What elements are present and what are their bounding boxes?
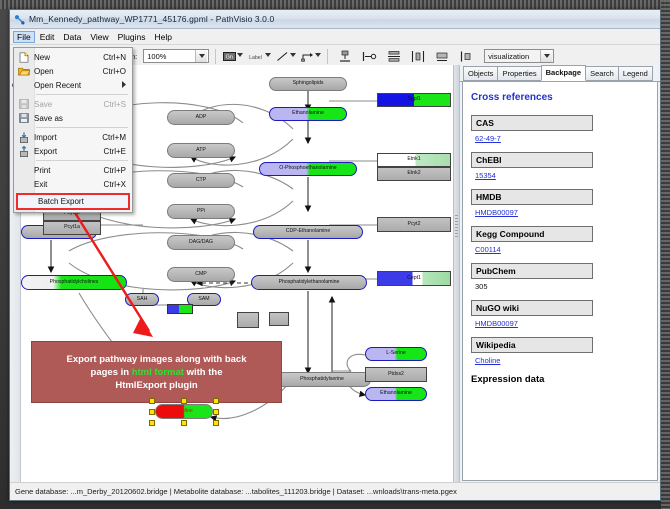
file-menu-item-print[interactable]: Print Ctrl+P bbox=[14, 163, 132, 177]
no-icon bbox=[14, 177, 34, 191]
pathvisio-window: Mm_Kennedy_pathway_WP1771_45176.gpml - P… bbox=[9, 9, 661, 501]
line-tool-group[interactable] bbox=[275, 48, 296, 64]
side-panel: Objects Properties Backpage Search Legen… bbox=[460, 65, 660, 483]
file-menu-dropdown: New Ctrl+N Open Ctrl+O Open Recent bbox=[13, 47, 133, 213]
menu-item-accelerator: Ctrl+X bbox=[104, 180, 132, 189]
menubar: File Edit Data View Plugins Help bbox=[10, 29, 660, 45]
menu-item-label: Batch Export bbox=[38, 197, 128, 206]
menu-plugins[interactable]: Plugins bbox=[114, 31, 150, 43]
no-icon bbox=[14, 163, 34, 177]
export-icon bbox=[14, 144, 34, 158]
tab-legend[interactable]: Legend bbox=[618, 66, 653, 81]
xref-source-label: Kegg Compound bbox=[471, 226, 593, 242]
handle-sw[interactable] bbox=[149, 420, 155, 426]
menu-item-label: New bbox=[34, 53, 103, 62]
tab-backpage[interactable]: Backpage bbox=[541, 65, 586, 81]
callout-line-1: Export pathway images along with back bbox=[66, 353, 246, 366]
xref-source-label: NuGO wiki bbox=[471, 300, 593, 316]
xref-source-label: Wikipedia bbox=[471, 337, 593, 353]
menu-separator bbox=[36, 127, 128, 128]
no-icon bbox=[14, 78, 34, 92]
align-top-icon[interactable] bbox=[338, 48, 352, 64]
file-menu-item-import[interactable]: Import Ctrl+M bbox=[14, 130, 132, 144]
menu-item-accelerator: Ctrl+O bbox=[103, 67, 132, 76]
interaction-icon[interactable] bbox=[300, 48, 314, 64]
xref-value-link[interactable]: 62-49-7 bbox=[475, 134, 649, 143]
menu-item-accelerator: Ctrl+M bbox=[102, 133, 132, 142]
save-disk-icon bbox=[14, 97, 34, 111]
handle-n[interactable] bbox=[181, 398, 187, 404]
xref-wikipedia: Wikipedia Choline bbox=[471, 337, 649, 365]
menu-data[interactable]: Data bbox=[59, 31, 85, 43]
menu-item-label: Import bbox=[34, 133, 102, 142]
align-left-icon[interactable] bbox=[362, 48, 377, 64]
handle-s[interactable] bbox=[181, 420, 187, 426]
file-menu-item-save-as[interactable]: Save as bbox=[14, 111, 132, 125]
zoom-value: 100% bbox=[147, 52, 166, 61]
screenshot-frame: Mm_Kennedy_pathway_WP1771_45176.gpml - P… bbox=[0, 0, 670, 509]
xref-value-link[interactable]: 15354 bbox=[475, 171, 649, 180]
pathvisio-app-icon bbox=[14, 14, 25, 25]
zoom-combobox[interactable]: 100% bbox=[143, 49, 209, 63]
callout-line2-pre: pages in bbox=[91, 367, 132, 378]
menu-item-label: Open Recent bbox=[34, 81, 122, 90]
handle-ne[interactable] bbox=[213, 398, 219, 404]
window-title: Mm_Kennedy_pathway_WP1771_45176.gpml - P… bbox=[29, 14, 274, 24]
menu-item-label: Print bbox=[34, 166, 104, 175]
menu-item-accelerator: Ctrl+S bbox=[104, 100, 132, 109]
file-menu-item-batch-export[interactable]: Batch Export bbox=[18, 195, 128, 208]
menu-item-label: Save as bbox=[34, 114, 126, 123]
import-icon bbox=[14, 130, 34, 144]
status-bar-text: Gene database: ...m_Derby_20120602.bridg… bbox=[10, 487, 457, 496]
cross-references-title: Cross references bbox=[471, 92, 649, 103]
backpage-content: Cross references CAS 62-49-7 ChEBI 15354… bbox=[462, 82, 658, 481]
handle-se[interactable] bbox=[213, 420, 219, 426]
distribute-icon[interactable] bbox=[411, 48, 425, 64]
xref-source-label: HMDB bbox=[471, 189, 593, 205]
common-size-icon[interactable] bbox=[435, 48, 449, 64]
menu-item-accelerator: Ctrl+P bbox=[104, 166, 132, 175]
chevron-down-icon[interactable] bbox=[195, 50, 207, 62]
splitter-grip-icon[interactable] bbox=[455, 215, 458, 237]
label-icon[interactable]: Label bbox=[247, 48, 264, 64]
callout-line2-post: with the bbox=[184, 367, 223, 378]
selection-handles[interactable] bbox=[149, 398, 219, 425]
status-bar: Gene database: ...m_Derby_20120602.bridg… bbox=[10, 482, 660, 500]
xref-value: 305 bbox=[475, 282, 649, 291]
chevron-down-icon[interactable] bbox=[265, 53, 271, 59]
menu-view[interactable]: View bbox=[86, 31, 112, 43]
handle-nw[interactable] bbox=[149, 398, 155, 404]
toolbar-separator bbox=[327, 49, 328, 64]
visualization-value: visualization bbox=[488, 52, 529, 61]
gene-product-icon[interactable]: Gn bbox=[222, 48, 236, 64]
open-folder-icon bbox=[14, 64, 34, 78]
window-titlebar: Mm_Kennedy_pathway_WP1771_45176.gpml - P… bbox=[10, 10, 660, 29]
xref-hmdb: HMDB HMDB00097 bbox=[471, 189, 649, 217]
menu-edit[interactable]: Edit bbox=[36, 31, 59, 43]
xref-chebi: ChEBI 15354 bbox=[471, 152, 649, 180]
xref-nugo-wiki: NuGO wiki HMDB00097 bbox=[471, 300, 649, 328]
menu-item-label: Export bbox=[34, 147, 104, 156]
menu-item-label: Save bbox=[34, 100, 104, 109]
toolbar-separator bbox=[215, 49, 216, 64]
menu-separator bbox=[36, 94, 128, 95]
common-width-icon[interactable] bbox=[459, 48, 473, 64]
file-menu-item-new[interactable]: New Ctrl+N bbox=[14, 50, 132, 64]
chevron-right-icon bbox=[122, 81, 132, 90]
xref-kegg-compound: Kegg Compound C00114 bbox=[471, 226, 649, 254]
tab-search[interactable]: Search bbox=[585, 66, 619, 81]
menu-help[interactable]: Help bbox=[151, 31, 176, 43]
chevron-down-icon[interactable] bbox=[540, 50, 552, 62]
menu-file[interactable]: File bbox=[13, 31, 35, 43]
xref-source-label: CAS bbox=[471, 115, 593, 131]
interaction-tool-group[interactable] bbox=[300, 48, 321, 64]
menu-item-accelerator: Ctrl+E bbox=[104, 147, 132, 156]
svg-text:Gn: Gn bbox=[225, 54, 232, 60]
file-menu-item-exit[interactable]: Exit Ctrl+X bbox=[14, 177, 132, 191]
tab-objects[interactable]: Objects bbox=[463, 66, 498, 81]
xref-value-link[interactable]: HMDB00097 bbox=[475, 319, 649, 328]
chevron-down-icon[interactable] bbox=[315, 53, 321, 59]
callout-line2-highlight: html format bbox=[132, 367, 184, 378]
menu-separator bbox=[36, 160, 128, 161]
handle-w[interactable] bbox=[149, 409, 155, 415]
menu-item-label: Exit bbox=[34, 180, 104, 189]
line-icon[interactable] bbox=[275, 48, 289, 64]
chevron-down-icon[interactable] bbox=[237, 53, 243, 59]
file-menu-item-open[interactable]: Open Ctrl+O bbox=[14, 64, 132, 78]
panel-splitter[interactable] bbox=[453, 65, 460, 483]
label-tool-group[interactable]: Label bbox=[247, 48, 271, 64]
new-file-icon bbox=[14, 50, 34, 64]
svg-text:Label: Label bbox=[249, 55, 262, 61]
expression-data-title: Expression data bbox=[471, 374, 649, 385]
callout-line-2: pages in html format with the bbox=[91, 366, 223, 379]
visualization-combobox[interactable]: visualization bbox=[484, 49, 554, 63]
xref-value-link[interactable]: C00114 bbox=[475, 245, 649, 254]
xref-pubchem: PubChem 305 bbox=[471, 263, 649, 291]
save-as-icon bbox=[14, 111, 34, 125]
batch-export-highlight-box: Batch Export bbox=[16, 193, 130, 210]
menu-item-accelerator: Ctrl+N bbox=[103, 53, 132, 62]
tab-properties[interactable]: Properties bbox=[497, 66, 541, 81]
xref-value-link[interactable]: Choline bbox=[475, 356, 649, 365]
xref-source-label: ChEBI bbox=[471, 152, 593, 168]
side-panel-tabs: Objects Properties Backpage Search Legen… bbox=[460, 65, 660, 82]
gene-product-tool-group[interactable]: Gn bbox=[222, 48, 243, 64]
file-menu-item-save: Save Ctrl+S bbox=[14, 97, 132, 111]
xref-source-label: PubChem bbox=[471, 263, 593, 279]
file-menu-item-open-recent[interactable]: Open Recent bbox=[14, 78, 132, 92]
no-icon bbox=[18, 195, 38, 209]
stack-vertical-icon[interactable] bbox=[387, 48, 401, 64]
xref-cas: CAS 62-49-7 bbox=[471, 115, 649, 143]
annotation-callout: Export pathway images along with back pa… bbox=[31, 341, 282, 403]
file-menu-item-export[interactable]: Export Ctrl+E bbox=[14, 144, 132, 158]
handle-e[interactable] bbox=[213, 409, 219, 415]
callout-line-3: HtmlExport plugin bbox=[115, 379, 197, 392]
menu-item-label: Open bbox=[34, 67, 103, 76]
chevron-down-icon[interactable] bbox=[290, 53, 296, 59]
xref-value-link[interactable]: HMDB00097 bbox=[475, 208, 649, 217]
